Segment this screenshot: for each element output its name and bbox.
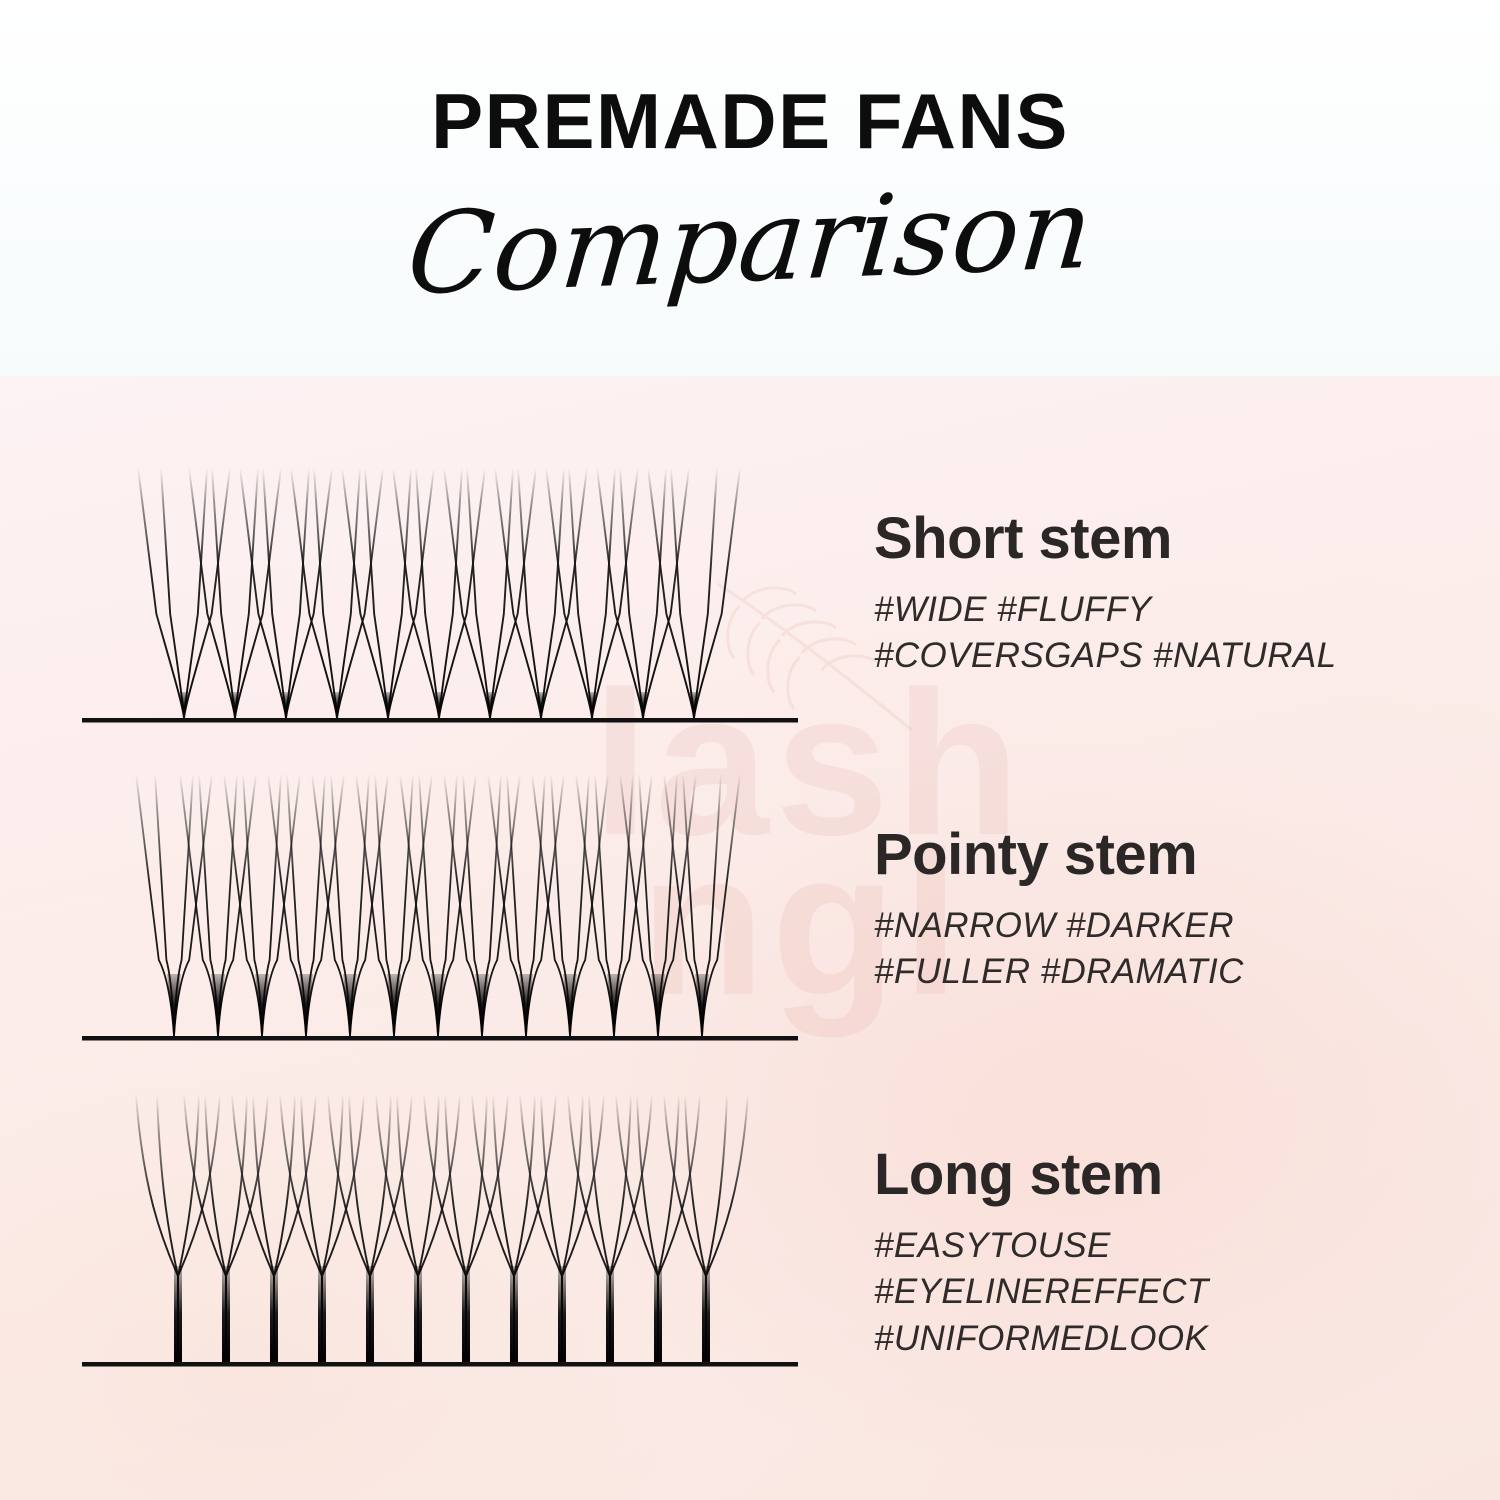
lash-strand: [232, 1094, 274, 1362]
section-title-long-stem: Long stem: [874, 1144, 1434, 1207]
fan-illustration-pointy-stem: [60, 774, 820, 1064]
fan-stem: [695, 974, 709, 1036]
lash-strand: [620, 468, 643, 718]
fan-stem: [519, 974, 533, 1036]
lash-strand: [466, 1094, 508, 1362]
lash-strand: [184, 468, 207, 718]
lash-strand: [418, 1094, 460, 1362]
lash-strand: [178, 1094, 220, 1362]
section-tagline-1: #WIDE #FLUFFY: [874, 587, 1434, 634]
lash-strand: [643, 468, 666, 718]
lash-strand: [286, 468, 309, 718]
lash-strand: [138, 468, 184, 718]
fan-stem: [606, 1266, 614, 1362]
fan-stem: [431, 974, 445, 1036]
lash-strand: [235, 468, 258, 718]
fan-stem: [462, 1266, 470, 1362]
lash-strand: [541, 468, 587, 718]
fan-stem: [211, 974, 225, 1036]
lash-strip-baseline: [82, 1036, 798, 1041]
lash-strip-baseline: [82, 1362, 798, 1367]
lash-strand: [658, 1094, 700, 1362]
lash-strand: [212, 468, 235, 718]
lash-strand: [546, 468, 592, 718]
lash-strip-baseline: [82, 718, 798, 723]
lash-strand: [388, 468, 411, 718]
section-tagline-2: #FULLER #DRAMATIC: [874, 949, 1434, 996]
fan-stem: [366, 1266, 374, 1362]
lash-strand: [439, 468, 485, 718]
section-tagline-1: #EASYTOUSE: [874, 1223, 1434, 1270]
section-title-pointy-stem: Pointy stem: [874, 824, 1434, 887]
fan-stem: [510, 1266, 518, 1362]
section-tagline-2: #COVERSGAPS #NATURAL: [874, 633, 1434, 680]
lash-strand: [328, 1094, 370, 1362]
fan-stem: [563, 974, 577, 1036]
lash-strand: [337, 468, 360, 718]
lash-strand: [694, 468, 717, 718]
fan-stem: [255, 974, 269, 1036]
lash-strand: [184, 468, 230, 718]
content-panel: lash ngl: [0, 376, 1500, 1500]
infographic-canvas: PREMADE FANS Comparison lash ngl: [0, 0, 1500, 1500]
lash-strand: [314, 468, 337, 718]
lash-strand: [226, 1094, 268, 1362]
lash-strand: [643, 468, 689, 718]
lash-strand: [184, 1094, 226, 1362]
section-title-short-stem: Short stem: [874, 508, 1434, 571]
lash-strand: [235, 468, 281, 718]
lash-strand: [694, 468, 740, 718]
lash-strand: [240, 468, 286, 718]
lash-strand: [393, 468, 439, 718]
lash-strand: [568, 1094, 610, 1362]
info-block-short-stem: Short stem #WIDE #FLUFFY #COVERSGAPS #NA…: [874, 508, 1434, 680]
section-tagline-3: #UNIFORMEDLOOK: [874, 1316, 1434, 1363]
lash-strand: [467, 468, 490, 718]
lash-strand: [274, 1094, 316, 1362]
lash-strand: [439, 468, 462, 718]
fan-stem: [387, 974, 401, 1036]
lash-strand: [444, 468, 490, 718]
fan-stem: [702, 1266, 710, 1362]
lash-strand: [136, 774, 174, 1036]
lash-strand: [562, 1094, 604, 1362]
fan-stem: [222, 1266, 230, 1362]
lash-strand: [490, 468, 536, 718]
fan-stem: [607, 974, 621, 1036]
fan-stem: [318, 1266, 326, 1362]
lash-strand: [495, 468, 541, 718]
lash-strand: [416, 468, 439, 718]
lash-strand: [263, 468, 286, 718]
section-tagline-1: #NARROW #DARKER: [874, 903, 1434, 950]
lash-strand: [664, 1094, 706, 1362]
fan-illustration-long-stem: [60, 1094, 820, 1392]
lash-strand: [342, 468, 388, 718]
page-title: PREMADE FANS: [0, 82, 1500, 160]
lash-strand: [610, 1094, 652, 1362]
lash-strand: [424, 1094, 466, 1362]
fan-stem: [299, 974, 313, 1036]
header-band: PREMADE FANS Comparison: [0, 0, 1500, 376]
fan-stem: [270, 1266, 278, 1362]
lash-strand: [376, 1094, 418, 1362]
lash-strand: [189, 468, 235, 718]
lash-strand: [490, 468, 513, 718]
lash-strand: [370, 1094, 412, 1362]
lash-strand: [541, 468, 564, 718]
lash-strand: [616, 1094, 658, 1362]
fan-stem: [651, 974, 665, 1036]
info-block-pointy-stem: Pointy stem #NARROW #DARKER #FULLER #DRA…: [874, 824, 1434, 996]
section-tagline-2: #EYELINEREFFECT: [874, 1269, 1434, 1316]
lash-strand: [569, 468, 592, 718]
page-subtitle-script: Comparison: [0, 141, 1500, 345]
lash-strand: [322, 1094, 364, 1362]
lash-strand: [136, 1094, 178, 1362]
lash-strand: [161, 468, 184, 718]
fan-stem: [414, 1266, 422, 1362]
info-block-long-stem: Long stem #EASYTOUSE #EYELINEREFFECT #UN…: [874, 1144, 1434, 1362]
fan-stem: [174, 1266, 182, 1362]
fan-stem: [654, 1266, 662, 1362]
fan-stem: [343, 974, 357, 1036]
lash-strand: [365, 468, 388, 718]
lash-strand: [671, 468, 694, 718]
lash-strand: [388, 468, 434, 718]
lash-strand: [472, 1094, 514, 1362]
lash-strand: [592, 468, 638, 718]
fan-stem: [558, 1266, 566, 1362]
lash-strand: [337, 468, 383, 718]
lash-strand: [706, 1094, 748, 1362]
lash-strand: [514, 1094, 556, 1362]
lash-strand: [597, 468, 643, 718]
lash-strand: [702, 774, 740, 1036]
lash-strand: [280, 1094, 322, 1362]
lash-strand: [520, 1094, 562, 1362]
lash-strand: [291, 468, 337, 718]
lash-strand: [286, 468, 332, 718]
lash-strand: [592, 468, 615, 718]
fan-illustration-short-stem: [60, 456, 820, 746]
lash-strand: [648, 468, 694, 718]
lash-strand: [518, 468, 541, 718]
fan-stem: [475, 974, 489, 1036]
fan-stem: [167, 974, 181, 1036]
